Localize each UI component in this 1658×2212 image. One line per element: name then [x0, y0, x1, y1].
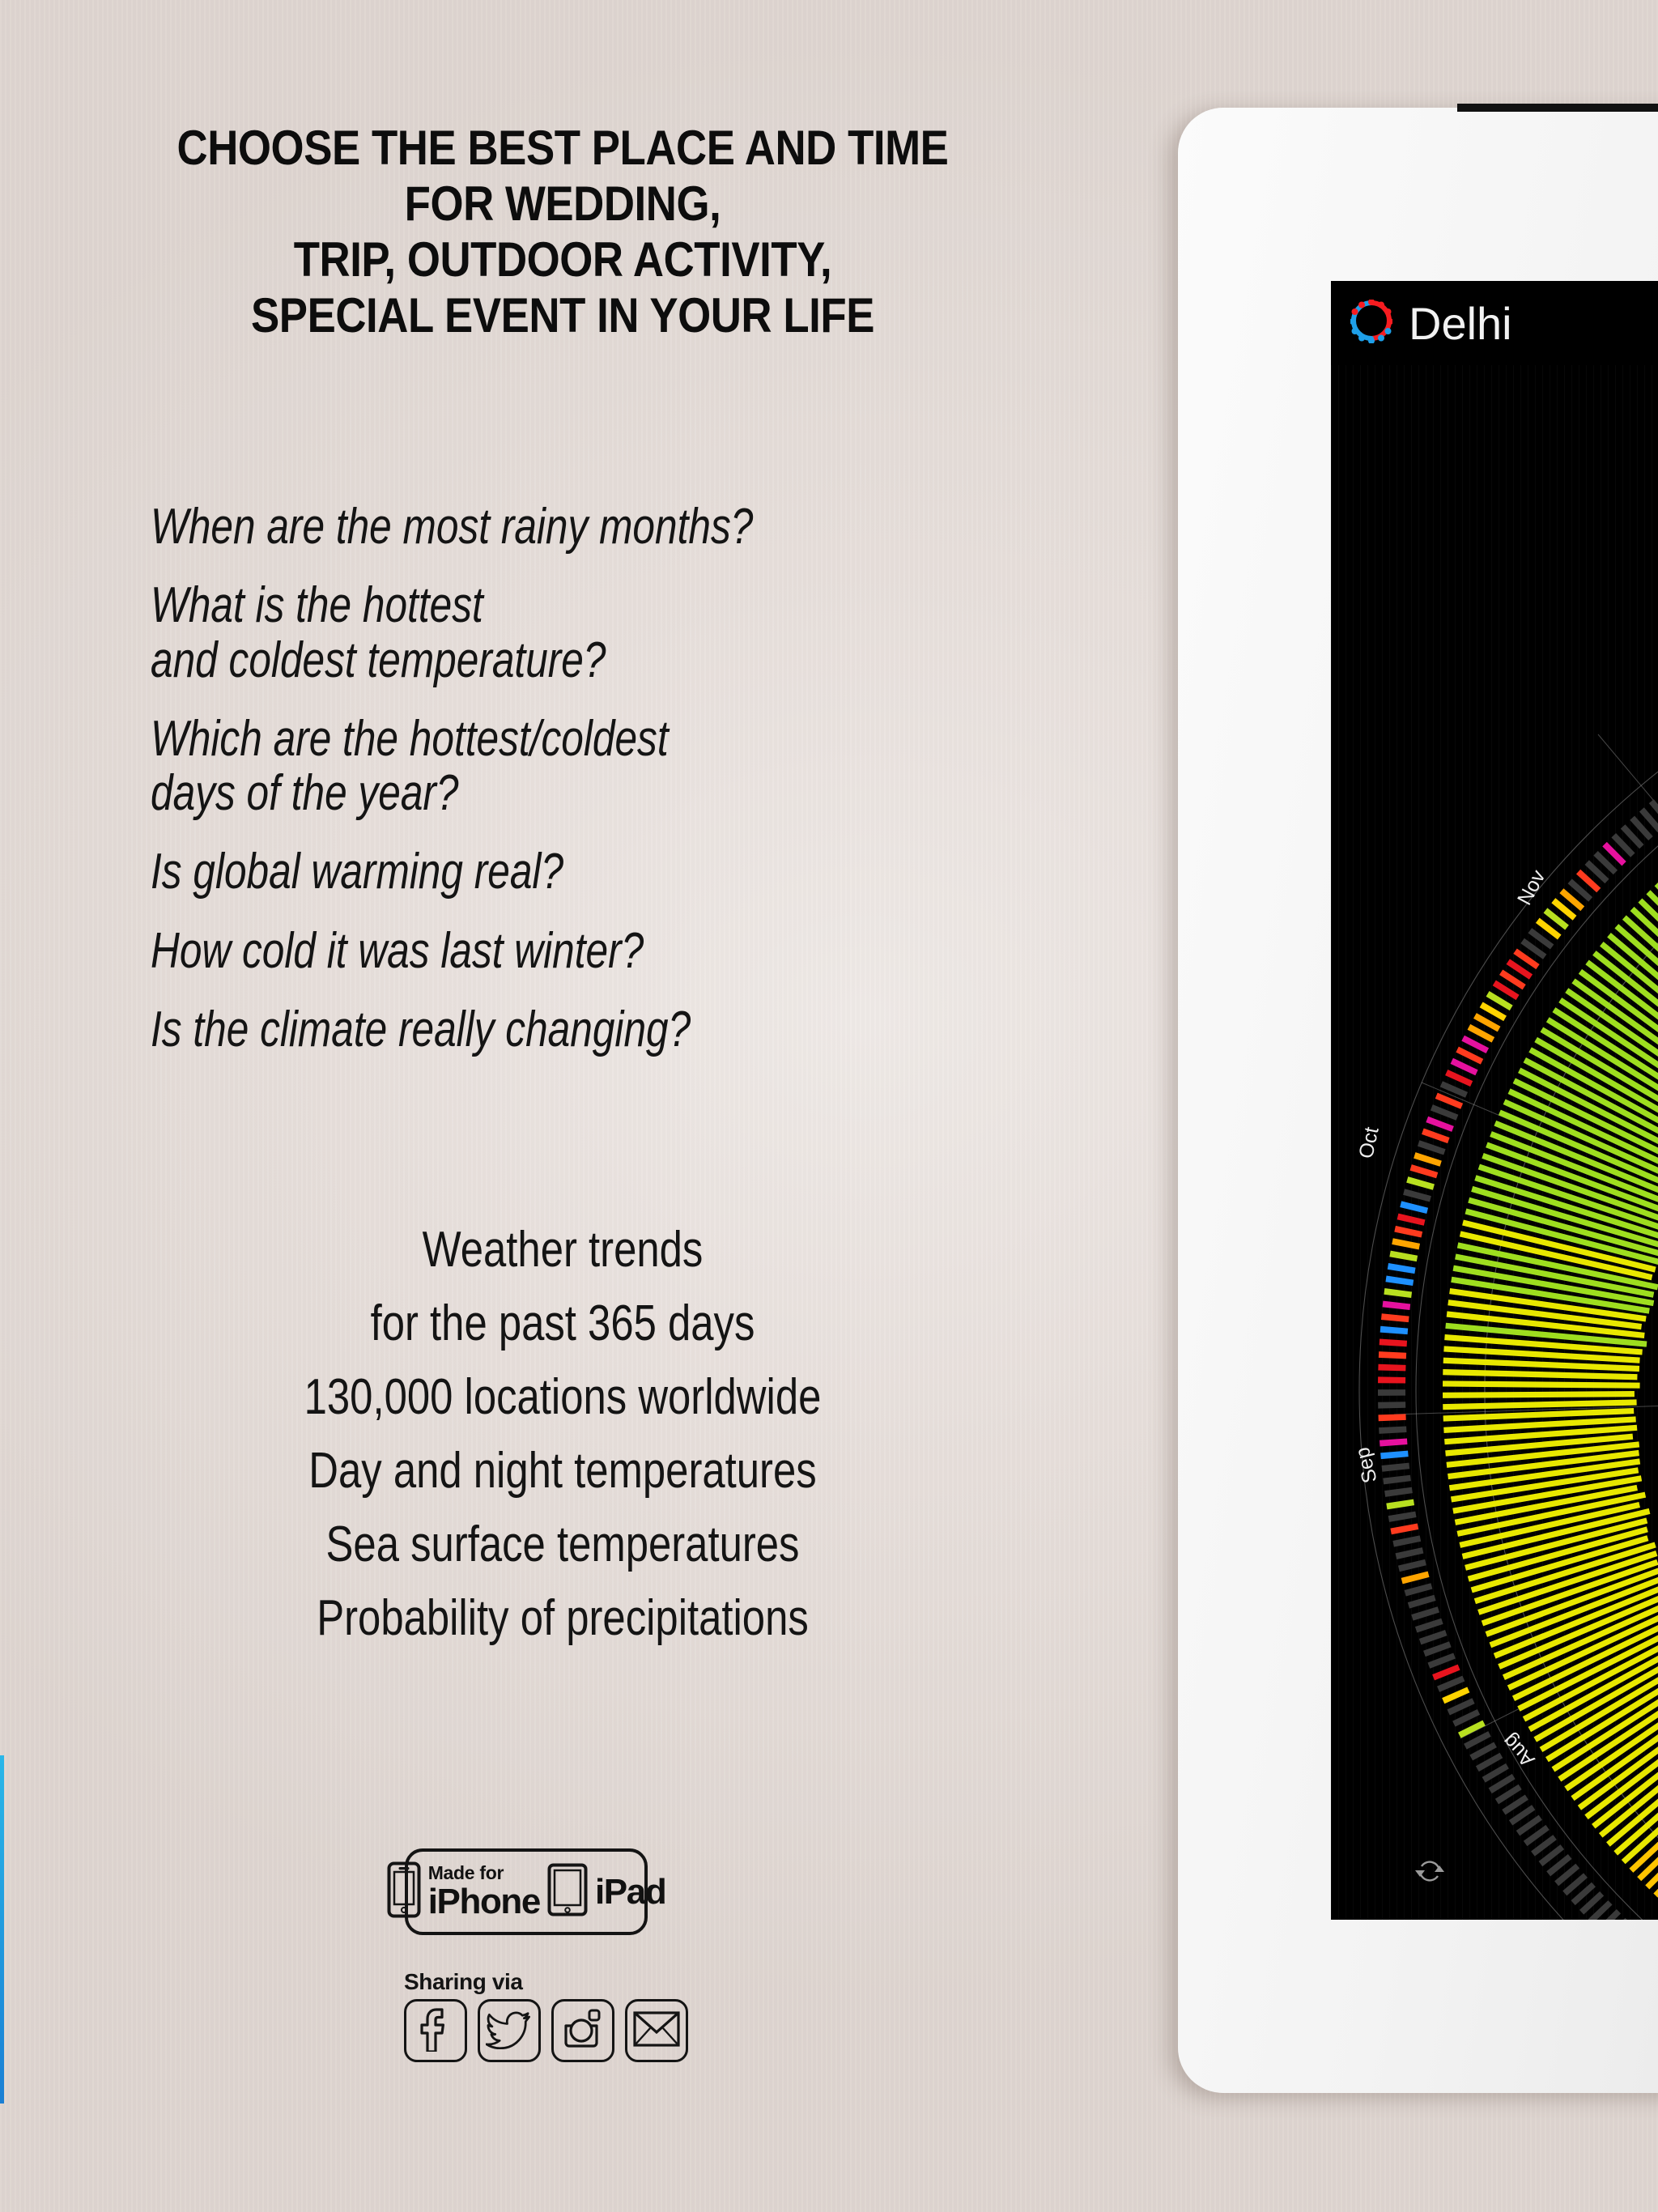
refresh-icon — [1412, 1878, 1448, 1891]
precipitation-segment — [1380, 1451, 1409, 1460]
question-item: Which are the hottest/coldest days of th… — [151, 712, 850, 821]
ipad-device-icon — [547, 1863, 588, 1921]
precipitation-segment — [1392, 1238, 1420, 1249]
share-twitter-button[interactable] — [478, 1999, 541, 2062]
precipitation-segment — [1422, 1128, 1450, 1143]
precipitation-segment — [1384, 1487, 1413, 1497]
precipitation-segment — [1403, 1189, 1431, 1202]
precipitation-segment — [1411, 1606, 1439, 1620]
headline-line-2: FOR WEDDING, — [138, 176, 986, 232]
precipitation-segment — [1385, 1276, 1414, 1287]
precipitation-segment — [1410, 1164, 1439, 1178]
precipitation-segment — [1378, 1364, 1405, 1372]
precipitation-segment — [1378, 1389, 1405, 1396]
precipitation-segment — [1380, 1326, 1408, 1334]
headline-line-3: TRIP, OUTDOOR ACTIVITY, — [138, 232, 986, 287]
precipitation-segment — [1379, 1426, 1406, 1433]
iphone-device-icon — [387, 1861, 421, 1922]
app-header-bar: Delhi — [1331, 281, 1658, 365]
email-icon — [633, 2011, 680, 2051]
precipitation-segment — [1414, 1152, 1442, 1167]
precipitation-segment — [1408, 1595, 1436, 1609]
made-for-apple-badge: Made for iPhone iPad — [405, 1848, 648, 1935]
headline-line-1: CHOOSE THE BEST PLACE AND TIME — [138, 120, 986, 176]
twitter-icon — [486, 2009, 533, 2053]
precipitation-segment — [1380, 1439, 1407, 1447]
precipitation-segment — [1378, 1402, 1405, 1408]
precipitation-segment — [1423, 1641, 1452, 1657]
facebook-icon — [414, 2006, 457, 2056]
precipitation-segment — [1383, 1301, 1411, 1310]
feature-item: for the past 365 days — [168, 1299, 958, 1349]
precipitation-segment — [1432, 1665, 1460, 1681]
temperature-bar — [1601, 1721, 1658, 1836]
precipitation-segment — [1400, 1201, 1428, 1214]
made-for-label: Made for — [428, 1864, 540, 1882]
headline-line-4: SPECIAL EVENT IN YOUR LIFE — [138, 287, 986, 343]
precipitation-segment — [1418, 1140, 1446, 1155]
feature-item: Day and night temperatures — [168, 1446, 958, 1496]
page-title: CHOOSE THE BEST PLACE AND TIME FOR WEDDI… — [138, 120, 986, 343]
precipitation-segment — [1379, 1351, 1406, 1359]
precipitation-segment — [1388, 1263, 1416, 1274]
sharing-section: Sharing via — [404, 1969, 688, 2062]
marketing-copy-column: CHOOSE THE BEST PLACE AND TIME FOR WEDDI… — [0, 0, 1133, 2212]
tablet-top-bezel-bar — [1457, 104, 1658, 112]
refresh-button[interactable] — [1412, 1854, 1448, 1892]
share-email-button[interactable] — [625, 1999, 688, 2062]
precipitation-segment — [1378, 1414, 1405, 1421]
precipitation-segment — [1419, 1630, 1448, 1644]
made-for-iphone-text: Made for iPhone — [428, 1864, 540, 1919]
precipitation-segment — [1378, 1376, 1405, 1383]
precipitation-segment — [1431, 1104, 1458, 1121]
iphone-label: iPhone — [428, 1884, 540, 1919]
ipad-label: iPad — [595, 1874, 665, 1909]
sharing-label: Sharing via — [404, 1969, 688, 1995]
temperature-bar — [1443, 1372, 1637, 1377]
app-screen: Nov Oct Sep Aug — [1331, 281, 1658, 1920]
precipitation-segment — [1437, 1676, 1465, 1692]
precipitation-segment — [1388, 1512, 1417, 1522]
sharing-icon-row — [404, 1999, 688, 2062]
precipitation-segment — [1394, 1226, 1422, 1238]
temperature-bar — [1443, 1402, 1636, 1407]
temperature-bar — [1443, 1384, 1640, 1385]
precipitation-segment — [1386, 1499, 1414, 1510]
precipitation-segment — [1397, 1214, 1426, 1226]
share-facebook-button[interactable] — [404, 1999, 467, 2062]
precipitation-segment — [1389, 1251, 1418, 1262]
feature-item: Weather trends — [168, 1225, 958, 1275]
feature-item: 130,000 locations worldwide — [168, 1372, 958, 1423]
precipitation-segment — [1381, 1313, 1409, 1322]
precipitation-segment — [1380, 1338, 1407, 1346]
feature-list: Weather trends for the past 365 days 130… — [81, 1225, 1044, 1667]
question-item: What is the hottest and coldest temperat… — [151, 578, 850, 687]
precipitation-segment — [1382, 1463, 1410, 1472]
question-item: How cold it was last winter? — [151, 924, 850, 978]
share-instagram-button[interactable] — [551, 1999, 614, 2062]
precipitation-segment — [1415, 1619, 1443, 1633]
precipitation-segment — [1383, 1475, 1411, 1485]
questions-list: When are the most rainy months? What is … — [151, 500, 1025, 1081]
temperature-bar — [1443, 1394, 1635, 1396]
app-city-title: Delhi — [1409, 297, 1512, 350]
question-item: When are the most rainy months? — [151, 500, 850, 554]
precipitation-segment — [1405, 1583, 1433, 1596]
sunburst-ring-logo-icon — [1350, 300, 1392, 347]
precipitation-segment — [1406, 1176, 1435, 1190]
precipitation-segment — [1440, 1081, 1468, 1098]
feature-item: Sea surface temperatures — [168, 1520, 958, 1570]
feature-item: Probability of precipitations — [168, 1593, 958, 1644]
precipitation-segment — [1392, 1535, 1421, 1546]
precipitation-segment — [1435, 1093, 1463, 1109]
radial-weather-chart[interactable] — [1331, 281, 1658, 1920]
precipitation-segment — [1390, 1523, 1418, 1534]
precipitation-segment — [1401, 1572, 1430, 1585]
precipitation-segment — [1398, 1559, 1426, 1572]
precipitation-segment — [1426, 1117, 1454, 1132]
question-item: Is the climate really changing? — [151, 1002, 850, 1057]
precipitation-segment — [1384, 1288, 1412, 1298]
precipitation-segment — [1396, 1547, 1424, 1559]
instagram-icon — [560, 2006, 606, 2056]
question-item: Is global warming real? — [151, 844, 850, 899]
precipitation-segment — [1427, 1653, 1455, 1668]
temperature-bar — [1443, 1360, 1639, 1368]
